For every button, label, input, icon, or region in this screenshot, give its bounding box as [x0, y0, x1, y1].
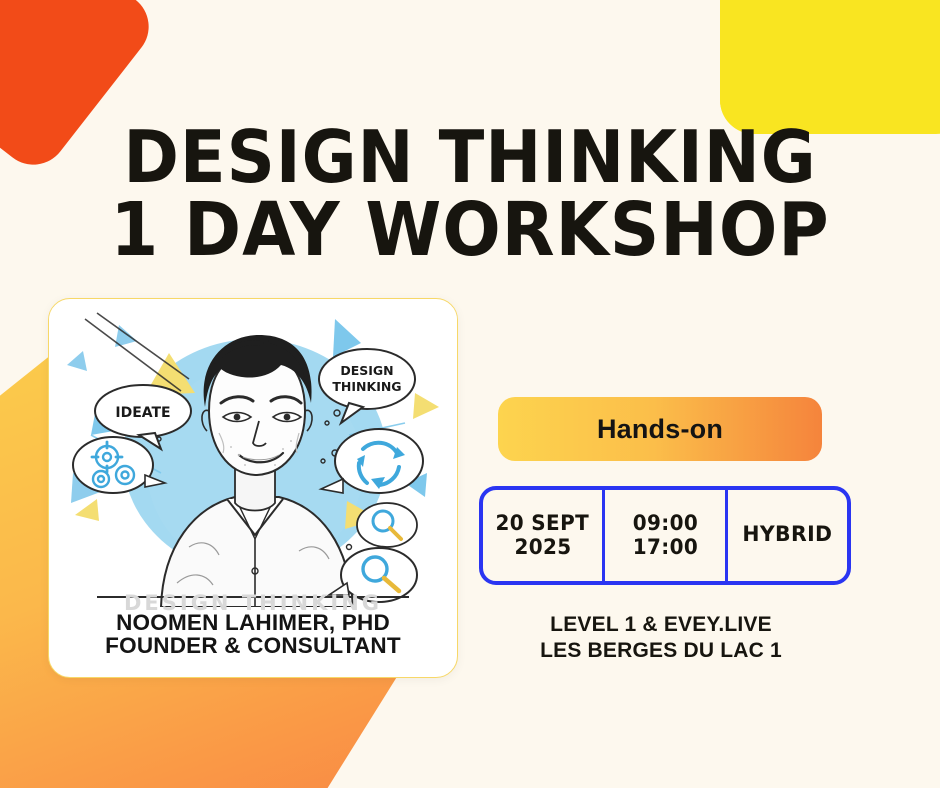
svg-text:THINKING: THINKING [332, 379, 401, 394]
svg-text:IDEATE: IDEATE [115, 405, 170, 421]
svg-text:DESIGN: DESIGN [340, 363, 393, 378]
headline-line-1: DESIGN THINKING [33, 124, 907, 190]
poster-canvas: DESIGN THINKING 1 DAY WORKSHOP [0, 0, 940, 788]
venue-line-2: LES BERGES DU LAC 1 [479, 638, 843, 664]
time-line-2: 17:00 [632, 536, 697, 560]
venue-block: LEVEL 1 & EVEY.LIVE LES BERGES DU LAC 1 [479, 612, 843, 665]
info-cell-time: 09:00 17:00 [605, 490, 727, 581]
decor-yellow-block [720, 0, 940, 134]
hands-on-label: Hands-on [597, 414, 723, 445]
headline-line-2: 1 DAY WORKSHOP [33, 196, 907, 264]
format-label: HYBRID [742, 523, 832, 548]
event-info-box: 20 SEPT 2025 09:00 17:00 HYBRID [479, 486, 851, 585]
speaker-name-block: NOOMEN LAHIMER, PHD FOUNDER & CONSULTANT [49, 611, 457, 658]
speaker-card: IDEATE DESIGN THINKING [48, 298, 458, 678]
venue-line-1: LEVEL 1 & EVEY.LIVE [479, 612, 843, 638]
page-title: DESIGN THINKING 1 DAY WORKSHOP [0, 124, 940, 264]
info-cell-format: HYBRID [728, 490, 847, 581]
info-cell-date: 20 SEPT 2025 [483, 490, 605, 581]
speaker-illustration: IDEATE DESIGN THINKING [49, 307, 457, 607]
time-line-1: 09:00 [632, 512, 697, 536]
date-line-2: 2025 [514, 536, 571, 560]
date-line-1: 20 SEPT [496, 512, 590, 536]
speaker-role: FOUNDER & CONSULTANT [49, 634, 457, 657]
hands-on-badge: Hands-on [498, 397, 822, 461]
speaker-name: NOOMEN LAHIMER, PHD [49, 611, 457, 634]
